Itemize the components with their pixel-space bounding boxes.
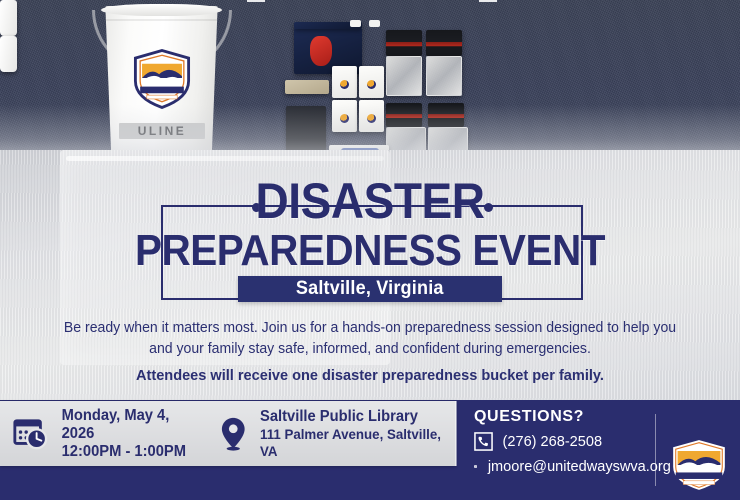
title-line-1: DISASTER <box>30 176 711 226</box>
footer-location-group: Saltville Public Library 111 Palmer Aven… <box>220 408 456 460</box>
email-address: jmoore@unitedwayswva.org <box>488 458 671 475</box>
footer-address: 111 Palmer Avenue, Saltville, VA <box>260 426 451 460</box>
body-line-1: Be ready when it matters most. Join us f… <box>40 318 700 339</box>
title-line-2: PREPAREDNESS EVENT <box>30 228 711 274</box>
location-pill-label: Saltville, Virginia <box>296 278 444 300</box>
calendar-clock-icon <box>12 414 50 454</box>
location-pill: Saltville, Virginia <box>238 276 502 302</box>
phone-row[interactable]: (276) 268-2508 <box>474 432 674 451</box>
body-copy: Be ready when it matters most. Join us f… <box>30 318 710 386</box>
footer-details-panel: Monday, May 4, 2026 12:00PM - 1:00PM Sal… <box>0 401 456 466</box>
footer-venue: Saltville Public Library <box>260 408 451 426</box>
questions-title: QUESTIONS? <box>474 408 674 426</box>
footer-location-text: Saltville Public Library 111 Palmer Aven… <box>255 408 457 460</box>
footer-panel-edge <box>455 401 457 466</box>
ready-southwest-virginia-logo <box>668 438 730 492</box>
title-frame-notch-right <box>479 0 497 2</box>
footer-date: Monday, May 4, 2026 <box>61 407 198 443</box>
plastic-bag-zip <box>66 156 384 161</box>
envelope-icon <box>474 457 477 476</box>
title-block: DISASTER PREPAREDNESS EVENT <box>0 176 740 274</box>
questions-block: QUESTIONS? (276) 268-2508 jmoore@unitedw… <box>474 408 674 476</box>
footer-date-text: Monday, May 4, 2026 12:00PM - 1:00PM <box>58 407 202 461</box>
title-frame-notch-left <box>247 0 265 2</box>
footer-date-group: Monday, May 4, 2026 12:00PM - 1:00PM <box>12 407 202 461</box>
phone-icon <box>474 432 493 451</box>
body-line-2: and your family stay safe, informed, and… <box>40 339 700 360</box>
event-flyer: ULINE <box>0 0 740 500</box>
body-highlight: Attendees will receive one disaster prep… <box>40 365 700 386</box>
footer-divider <box>655 414 656 486</box>
footer-time: 12:00PM - 1:00PM <box>61 443 198 461</box>
email-row[interactable]: jmoore@unitedwayswva.org <box>474 457 674 476</box>
map-pin-icon <box>220 415 247 453</box>
phone-number: (276) 268-2508 <box>503 433 603 450</box>
